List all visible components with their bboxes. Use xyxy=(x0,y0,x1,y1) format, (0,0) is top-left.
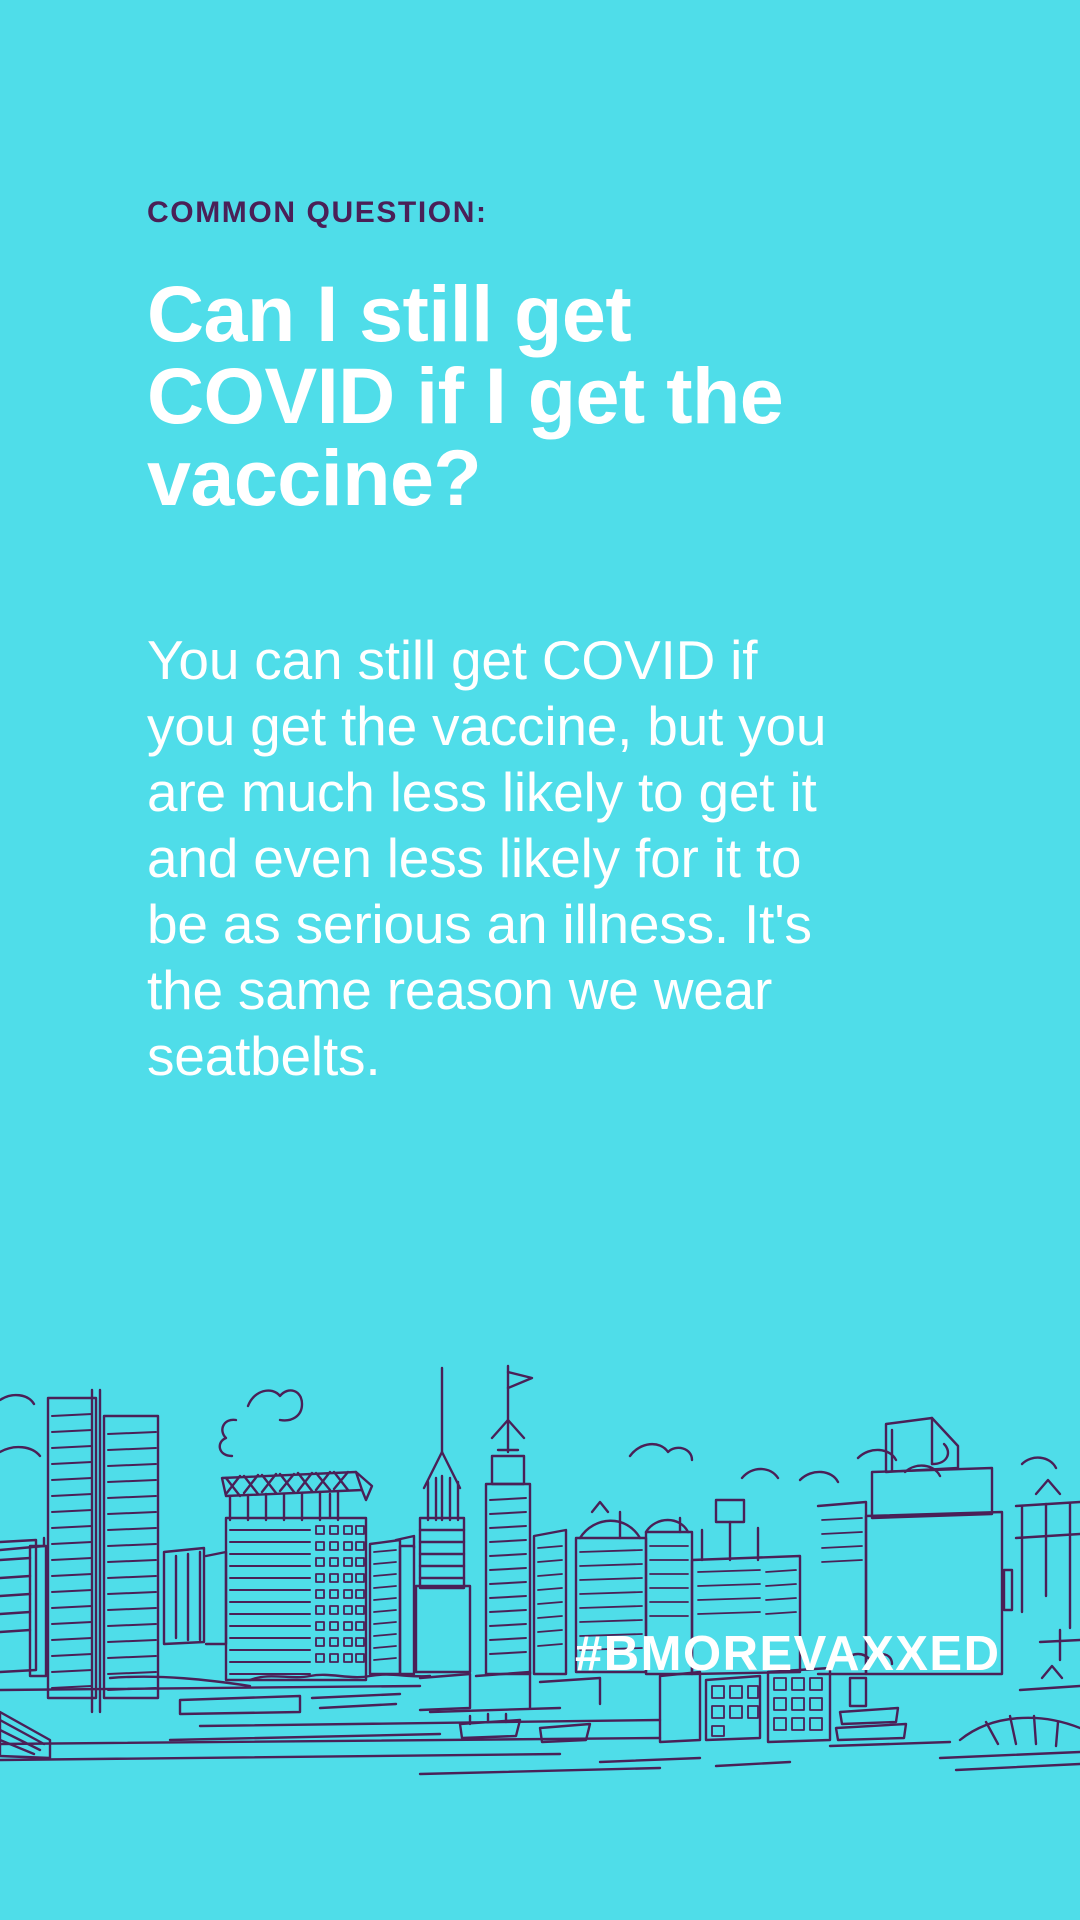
poster-canvas: COMMON QUESTION: Can I still get COVID i… xyxy=(0,0,1080,1920)
skyline-illustration xyxy=(0,1360,1080,1810)
body-paragraph: You can still get COVID if you get the v… xyxy=(147,627,847,1089)
page-title: Can I still get COVID if I get the vacci… xyxy=(147,273,887,519)
message-block: COMMON QUESTION: Can I still get COVID i… xyxy=(147,196,947,1089)
campaign-hashtag: #BMOREVAXXED xyxy=(575,1630,1001,1679)
eyebrow-label: COMMON QUESTION: xyxy=(147,196,947,229)
